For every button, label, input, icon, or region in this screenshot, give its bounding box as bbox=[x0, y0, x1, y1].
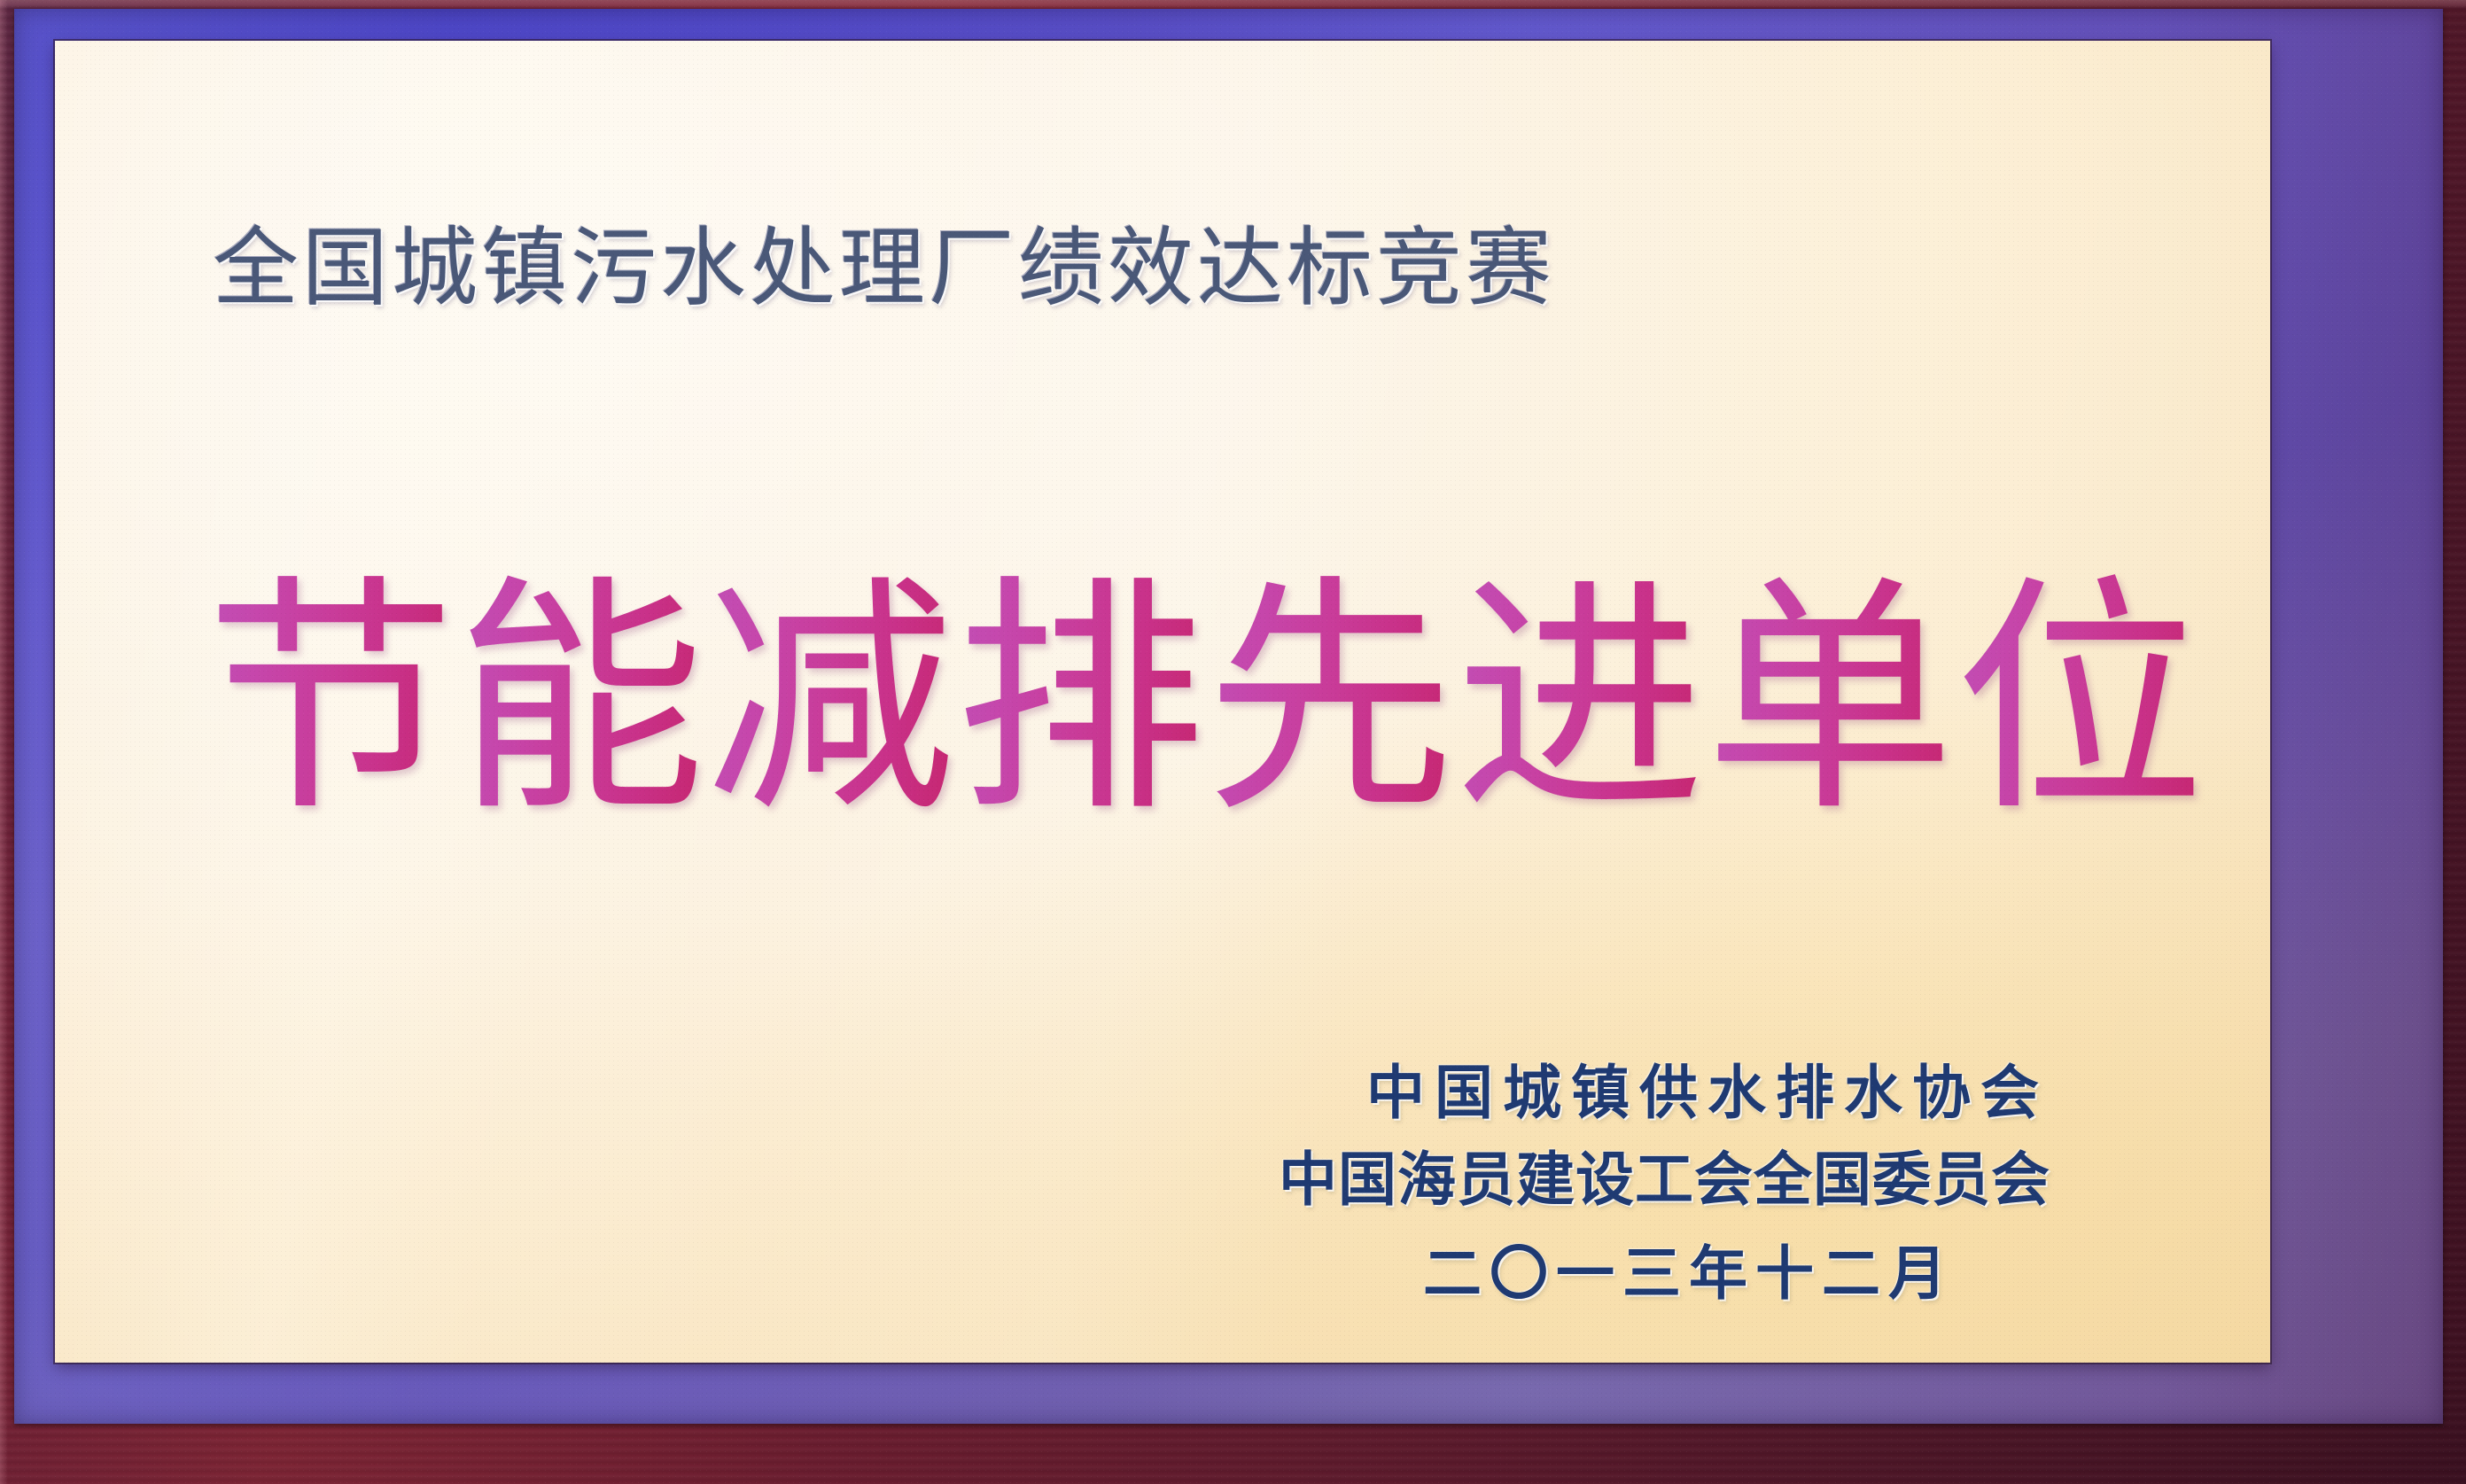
issuing-organization-secondary: 中国海员建设工会全国委员会 bbox=[1279, 1151, 2050, 1209]
award-char: 减 bbox=[705, 572, 955, 827]
plaque-content: 全国城镇污水处理厂绩效达标竞赛 节 能 减 排 先 进 单 位 中国城镇供水排水… bbox=[55, 41, 2270, 1363]
award-title: 节 能 减 排 先 进 单 位 bbox=[206, 572, 2137, 827]
award-char: 排 bbox=[955, 572, 1205, 827]
award-char: 先 bbox=[1205, 572, 1455, 827]
competition-heading: 全国城镇污水处理厂绩效达标竞赛 bbox=[213, 225, 1555, 311]
award-char: 单 bbox=[1705, 572, 1955, 827]
plaque-panel: 全国城镇污水处理厂绩效达标竞赛 节 能 减 排 先 进 单 位 中国城镇供水排水… bbox=[55, 41, 2270, 1363]
award-char: 节 bbox=[206, 572, 455, 827]
issue-date: 二〇一三年十二月 bbox=[1279, 1245, 1955, 1303]
award-plaque-photo: 全国城镇污水处理厂绩效达标竞赛 节 能 减 排 先 进 单 位 中国城镇供水排水… bbox=[0, 0, 2466, 1484]
award-char: 进 bbox=[1455, 572, 1705, 827]
frame-top-bevel bbox=[0, 0, 2466, 9]
award-char: 位 bbox=[1955, 572, 2205, 827]
frame-left-bevel bbox=[0, 0, 8, 1484]
signature-block: 中国城镇供水排水协会 中国海员建设工会全国委员会 二〇一三年十二月 bbox=[1279, 1064, 2050, 1303]
award-char: 能 bbox=[455, 572, 705, 827]
issuing-organization-primary: 中国城镇供水排水协会 bbox=[1279, 1064, 2050, 1123]
